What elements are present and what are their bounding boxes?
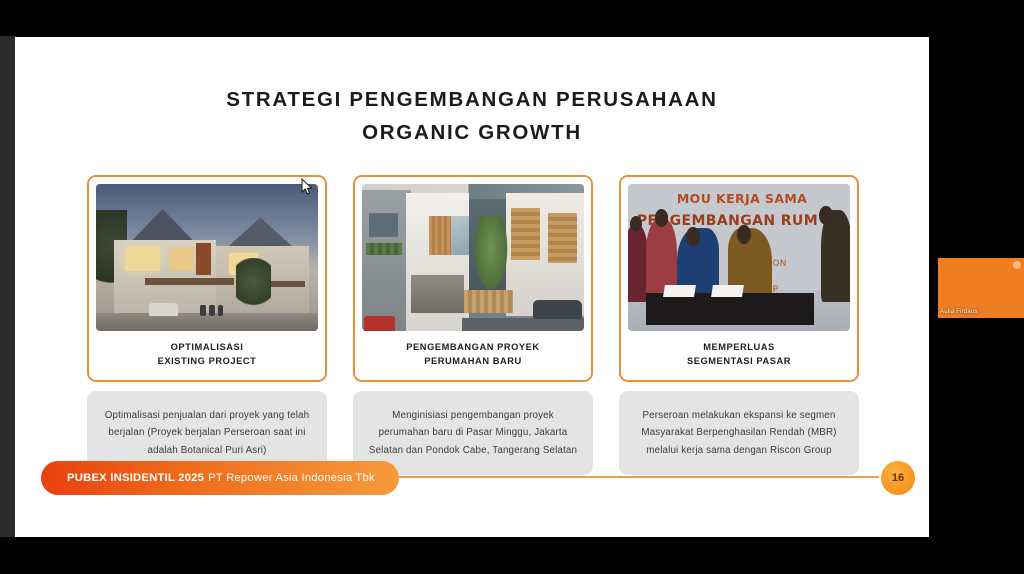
card-1-caption-line-2: EXISTING PROJECT	[100, 354, 314, 368]
red-car-shape	[364, 316, 395, 331]
presentation-slide: STRATEGI PENGEMBANGAN PERUSAHAAN ORGANIC…	[15, 37, 929, 537]
garage-shape	[411, 275, 464, 313]
card-1-caption: OPTIMALISASI EXISTING PROJECT	[96, 331, 318, 380]
title-line-secondary: ORGANIC GROWTH	[15, 116, 929, 149]
card-2-caption: PENGEMBANGAN PROYEK PERUMAHAN BARU	[362, 331, 584, 380]
card-2-caption-line-1: PENGEMBANGAN PROYEK	[366, 340, 580, 354]
head-shape-2	[655, 209, 668, 227]
strategy-columns: OPTIMALISASI EXISTING PROJECT Optimalisa…	[87, 175, 859, 475]
card-2-caption-line-2: PERUMAHAN BARU	[366, 354, 580, 368]
photo-card-2: PENGEMBANGAN PROYEK PERUMAHAN BARU	[353, 175, 593, 382]
slide-title: STRATEGI PENGEMBANGAN PERUSAHAAN ORGANIC…	[15, 83, 929, 149]
car-shape	[149, 303, 178, 316]
document-shape-2	[711, 285, 744, 297]
road-shape	[462, 318, 584, 331]
footer-event-name: PUBEX INSIDENTIL 2025	[67, 472, 204, 484]
modern-townhouse-image	[362, 184, 584, 331]
mou-signing-image: MOU KERJA SAMA PENGEMBANGAN RUM DON UP	[628, 184, 850, 331]
upper-window-shape	[369, 213, 398, 237]
canopy-a-shape	[145, 278, 234, 285]
strategy-column-optimalisasi: OPTIMALISASI EXISTING PROJECT Optimalisa…	[87, 175, 327, 475]
participant-name-label: Aulia Firdaus	[940, 309, 978, 315]
strategy-column-pengembangan: PENGEMBANGAN PROYEK PERUMAHAN BARU Mengi…	[353, 175, 593, 475]
person-shape-3	[218, 305, 223, 317]
dark-car-shape	[533, 300, 582, 319]
participant-video-tile[interactable]: Aulia Firdaus	[938, 258, 1024, 318]
ground-shape	[96, 313, 318, 331]
street-tree-shape	[473, 216, 509, 292]
residential-houses-image	[96, 184, 318, 331]
video-corner-indicator-icon	[1013, 261, 1021, 269]
card-1-description-text: Optimalisasi penjualan dari proyek yang …	[101, 407, 313, 459]
card-1-caption-line-1: OPTIMALISASI	[100, 340, 314, 354]
card-3-caption: MEMPERLUAS SEGMENTASI PASAR	[628, 331, 850, 380]
door-shape	[196, 243, 212, 275]
window-b-shape	[169, 247, 193, 271]
footer-banner: PUBEX INSIDENTIL 2025 PT Repower Asia In…	[41, 461, 399, 495]
footer-company-name: PT Repower Asia Indonesia Tbk	[208, 472, 375, 484]
wood-panel-shape	[429, 216, 451, 254]
louvre-panel-2-shape	[548, 213, 577, 263]
left-block-a-shape	[362, 190, 411, 331]
louvre-panel-1-shape	[511, 208, 540, 261]
hedge-shape	[366, 243, 402, 255]
person-shape-1	[200, 305, 205, 317]
card-2-description-text: Menginisiasi pengembangan proyek perumah…	[367, 407, 579, 459]
page-number-badge: 16	[881, 461, 915, 495]
card-3-caption-line-2: SEGMENTASI PASAR	[632, 354, 846, 368]
photo-card-1: OPTIMALISASI EXISTING PROJECT	[87, 175, 327, 382]
photo-card-3: MOU KERJA SAMA PENGEMBANGAN RUM DON UP	[619, 175, 859, 382]
slide-left-gutter	[0, 36, 16, 537]
document-shape-1	[663, 285, 696, 297]
tree-right-shape	[236, 258, 272, 311]
attendee-shape-1	[628, 225, 648, 301]
signing-table-shape	[646, 293, 815, 325]
window-a-shape	[125, 247, 161, 271]
strategy-column-segmentasi: MOU KERJA SAMA PENGEMBANGAN RUM DON UP	[619, 175, 859, 475]
head-shape-3	[686, 227, 700, 246]
person-shape-2	[209, 305, 214, 317]
card-3-description-text: Perseroan melakukan ekspansi ke segmen M…	[633, 407, 845, 459]
backdrop-text-line-1: MOU KERJA SAMA	[677, 191, 807, 206]
title-line-primary: STRATEGI PENGEMBANGAN PERUSAHAAN	[15, 83, 929, 116]
card-3-caption-line-1: MEMPERLUAS	[632, 340, 846, 354]
card-3-description-panel: Perseroan melakukan ekspansi ke segmen M…	[619, 391, 859, 475]
fence-shape	[464, 290, 513, 314]
video-conference-stage: STRATEGI PENGEMBANGAN PERUSAHAAN ORGANIC…	[0, 0, 1024, 574]
